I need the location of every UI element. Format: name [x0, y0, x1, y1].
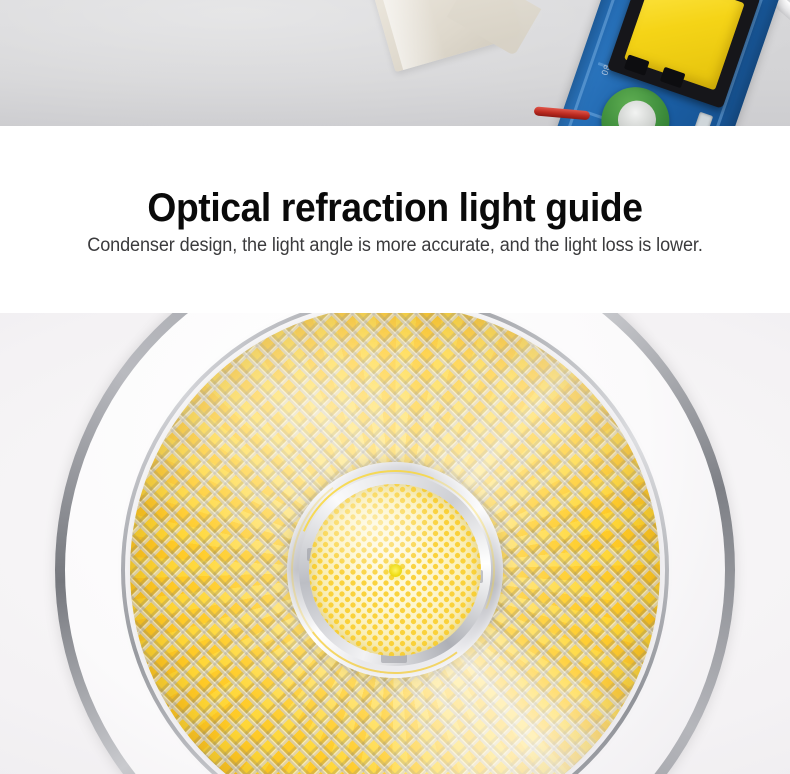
subheadline: Condenser design, the light angle is mor…	[20, 234, 771, 258]
led-driver-photo-strip: 08 07	[0, 0, 790, 126]
pcb-pad	[692, 112, 714, 126]
cob-sheen	[309, 484, 481, 656]
led-spotlight-closeup	[0, 313, 790, 774]
headline: Optical refraction light guide	[28, 187, 763, 229]
feature-banner-page: 08 07 Optical refraction light guide Con…	[0, 0, 790, 774]
headline-block: Optical refraction light guide Condenser…	[0, 126, 790, 313]
cob-emitter-disc	[309, 484, 481, 656]
